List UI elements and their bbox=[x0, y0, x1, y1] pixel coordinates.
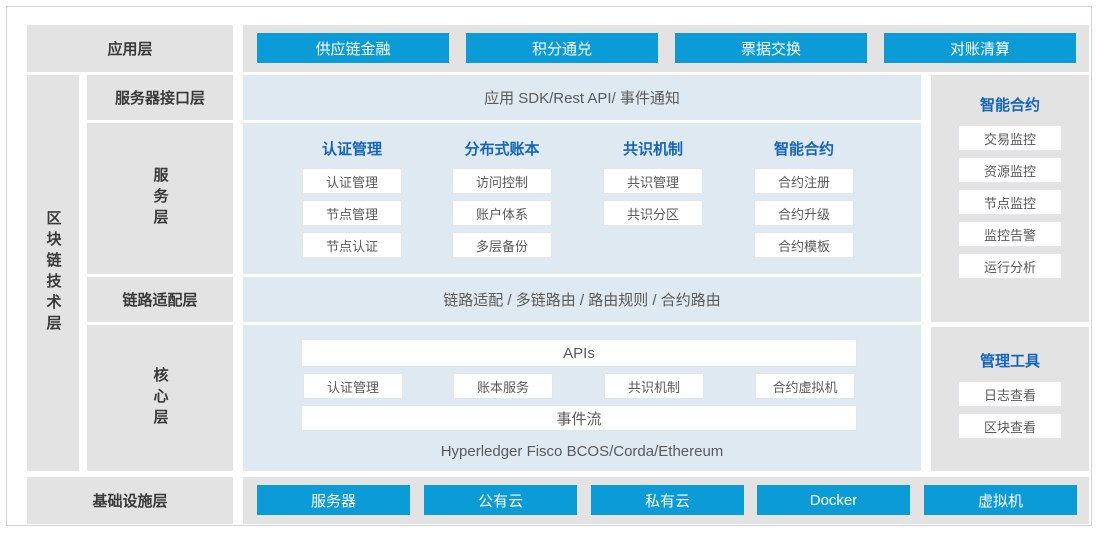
service-cell[interactable]: 多层备份 bbox=[452, 232, 552, 258]
infrastructure-layer-label: 基础设施层 bbox=[27, 477, 233, 524]
service-column-head-auth: 认证管理 bbox=[292, 137, 412, 159]
infrastructure-layer-label-text: 基础设施层 bbox=[92, 490, 167, 511]
server-interface-layer-panel: 应用 SDK/Rest API/ 事件通知 bbox=[243, 75, 921, 120]
service-cell-label: 多层备份 bbox=[476, 236, 528, 255]
right-panel-item-resource-monitor[interactable]: 资源监控 bbox=[958, 157, 1062, 183]
service-cell-label: 节点认证 bbox=[326, 236, 378, 255]
core-event-flow-box[interactable]: 事件流 bbox=[301, 405, 857, 431]
service-column-head-label: 智能合约 bbox=[774, 138, 834, 159]
right-panel-title: 管理工具 bbox=[931, 345, 1089, 375]
core-ledger-platforms: Hyperledger Fisco BCOS/Corda/Ethereum bbox=[243, 437, 921, 465]
app-item-label: 对账清算 bbox=[950, 38, 1010, 59]
link-adaptation-layer-panel: 链路适配 / 多链路由 / 路由规则 / 合约路由 bbox=[243, 277, 921, 322]
server-interface-layer-label: 服务器接口层 bbox=[87, 75, 233, 120]
infra-item-server[interactable]: 服务器 bbox=[257, 485, 410, 515]
right-panel-title: 智能合约 bbox=[931, 89, 1089, 119]
core-event-flow-label: 事件流 bbox=[556, 408, 601, 429]
right-panel-item-label: 交易监控 bbox=[984, 129, 1036, 148]
service-cell-label: 合约注册 bbox=[778, 172, 830, 191]
core-module-ledger-service[interactable]: 账本服务 bbox=[453, 373, 553, 399]
link-adaptation-layer-label: 链路适配层 bbox=[87, 277, 233, 322]
right-panel-item-transaction-monitor[interactable]: 交易监控 bbox=[958, 125, 1062, 151]
app-item-bill-exchange[interactable]: 票据交换 bbox=[675, 33, 867, 63]
service-cell[interactable]: 访问控制 bbox=[452, 168, 552, 194]
service-cell[interactable]: 合约注册 bbox=[754, 168, 854, 194]
service-cell[interactable]: 节点管理 bbox=[302, 200, 402, 226]
app-item-supply-chain-finance[interactable]: 供应链金融 bbox=[257, 33, 449, 63]
infra-item-docker[interactable]: Docker bbox=[757, 485, 910, 515]
application-layer-label: 应用层 bbox=[27, 25, 233, 72]
right-panel-item-label: 区块查看 bbox=[984, 417, 1036, 436]
infra-item-label: 公有云 bbox=[478, 490, 523, 511]
core-module-consensus[interactable]: 共识机制 bbox=[604, 373, 704, 399]
right-panel-item-label: 运行分析 bbox=[984, 257, 1036, 276]
infra-item-label: 服务器 bbox=[311, 490, 356, 511]
infra-item-virtual-machine[interactable]: 虚拟机 bbox=[924, 485, 1077, 515]
service-layer-label: 服务层 bbox=[87, 123, 233, 274]
service-cell-label: 认证管理 bbox=[326, 172, 378, 191]
service-cell[interactable]: 共识管理 bbox=[603, 168, 703, 194]
core-apis-label: APIs bbox=[563, 345, 595, 362]
core-module-auth[interactable]: 认证管理 bbox=[303, 373, 403, 399]
blockchain-tech-layer-spine: 区块链技术层 bbox=[27, 75, 79, 471]
infra-item-public-cloud[interactable]: 公有云 bbox=[424, 485, 577, 515]
core-module-label: 认证管理 bbox=[327, 377, 379, 396]
core-layer-label-text: 核心层 bbox=[153, 367, 168, 430]
server-interface-layer-content: 应用 SDK/Rest API/ 事件通知 bbox=[484, 87, 680, 108]
application-layer-label-text: 应用层 bbox=[107, 38, 152, 59]
infra-item-label: 虚拟机 bbox=[978, 490, 1023, 511]
app-item-label: 票据交换 bbox=[741, 38, 801, 59]
service-cell-label: 共识管理 bbox=[627, 172, 679, 191]
core-module-label: 共识机制 bbox=[628, 377, 680, 396]
service-cell-label: 访问控制 bbox=[476, 172, 528, 191]
right-panel-item-node-monitor[interactable]: 节点监控 bbox=[958, 189, 1062, 215]
service-cell[interactable]: 合约模板 bbox=[754, 232, 854, 258]
service-cell[interactable]: 合约升级 bbox=[754, 200, 854, 226]
app-item-label: 积分通兑 bbox=[532, 38, 592, 59]
right-panel-item-label: 监控告警 bbox=[984, 225, 1036, 244]
service-cell-label: 合约升级 bbox=[778, 204, 830, 223]
right-panel-item-label: 节点监控 bbox=[984, 193, 1036, 212]
infra-item-label: 私有云 bbox=[645, 490, 690, 511]
service-cell[interactable]: 节点认证 bbox=[302, 232, 402, 258]
infra-item-private-cloud[interactable]: 私有云 bbox=[591, 485, 744, 515]
core-apis-box[interactable]: APIs bbox=[301, 339, 857, 367]
link-adaptation-layer-content: 链路适配 / 多链路由 / 路由规则 / 合约路由 bbox=[443, 289, 721, 310]
service-cell-label: 账户体系 bbox=[476, 204, 528, 223]
right-panel-item-block-viewer[interactable]: 区块查看 bbox=[958, 413, 1062, 439]
core-ledger-platforms-label: Hyperledger Fisco BCOS/Corda/Ethereum bbox=[441, 443, 724, 460]
app-item-points-exchange[interactable]: 积分通兑 bbox=[466, 33, 658, 63]
right-panel-item-runtime-analysis[interactable]: 运行分析 bbox=[958, 253, 1062, 279]
service-cell[interactable]: 账户体系 bbox=[452, 200, 552, 226]
service-column-head-ledger: 分布式账本 bbox=[442, 137, 562, 159]
app-item-label: 供应链金融 bbox=[315, 38, 390, 59]
service-column-head-label: 共识机制 bbox=[623, 138, 683, 159]
core-layer-label: 核心层 bbox=[87, 325, 233, 471]
core-module-label: 合约虚拟机 bbox=[772, 377, 837, 396]
link-adaptation-layer-label-text: 链路适配层 bbox=[122, 289, 197, 310]
right-panel-item-label: 资源监控 bbox=[984, 161, 1036, 180]
service-column-head-consensus: 共识机制 bbox=[593, 137, 713, 159]
service-cell-label: 合约模板 bbox=[778, 236, 830, 255]
right-panel-smart-contract: 智能合约 交易监控 资源监控 节点监控 监控告警 运行分析 bbox=[931, 75, 1089, 322]
core-module-contract-vm[interactable]: 合约虚拟机 bbox=[755, 373, 855, 399]
right-panel-management-tools: 管理工具 日志查看 区块查看 bbox=[931, 327, 1089, 471]
service-column-head-label: 分布式账本 bbox=[464, 138, 539, 159]
service-column-head-smart-contract: 智能合约 bbox=[744, 137, 864, 159]
service-cell-label: 节点管理 bbox=[326, 204, 378, 223]
service-layer-label-text: 服务层 bbox=[153, 167, 168, 230]
right-panel-item-label: 日志查看 bbox=[984, 385, 1036, 404]
right-panel-item-monitor-alarm[interactable]: 监控告警 bbox=[958, 221, 1062, 247]
infra-item-label: Docker bbox=[810, 492, 858, 509]
architecture-diagram-frame: 区块链技术层 应用层 供应链金融 积分通兑 票据交换 对账清算 服务器接口层 应… bbox=[6, 6, 1092, 526]
service-cell[interactable]: 共识分区 bbox=[603, 200, 703, 226]
right-panel-item-log-viewer[interactable]: 日志查看 bbox=[958, 381, 1062, 407]
service-cell-label: 共识分区 bbox=[627, 204, 679, 223]
service-cell[interactable]: 认证管理 bbox=[302, 168, 402, 194]
spine-label: 区块链技术层 bbox=[46, 210, 61, 336]
core-module-label: 账本服务 bbox=[477, 377, 529, 396]
app-item-reconciliation-settlement[interactable]: 对账清算 bbox=[884, 33, 1076, 63]
service-column-head-label: 认证管理 bbox=[322, 138, 382, 159]
server-interface-layer-label-text: 服务器接口层 bbox=[115, 87, 205, 108]
